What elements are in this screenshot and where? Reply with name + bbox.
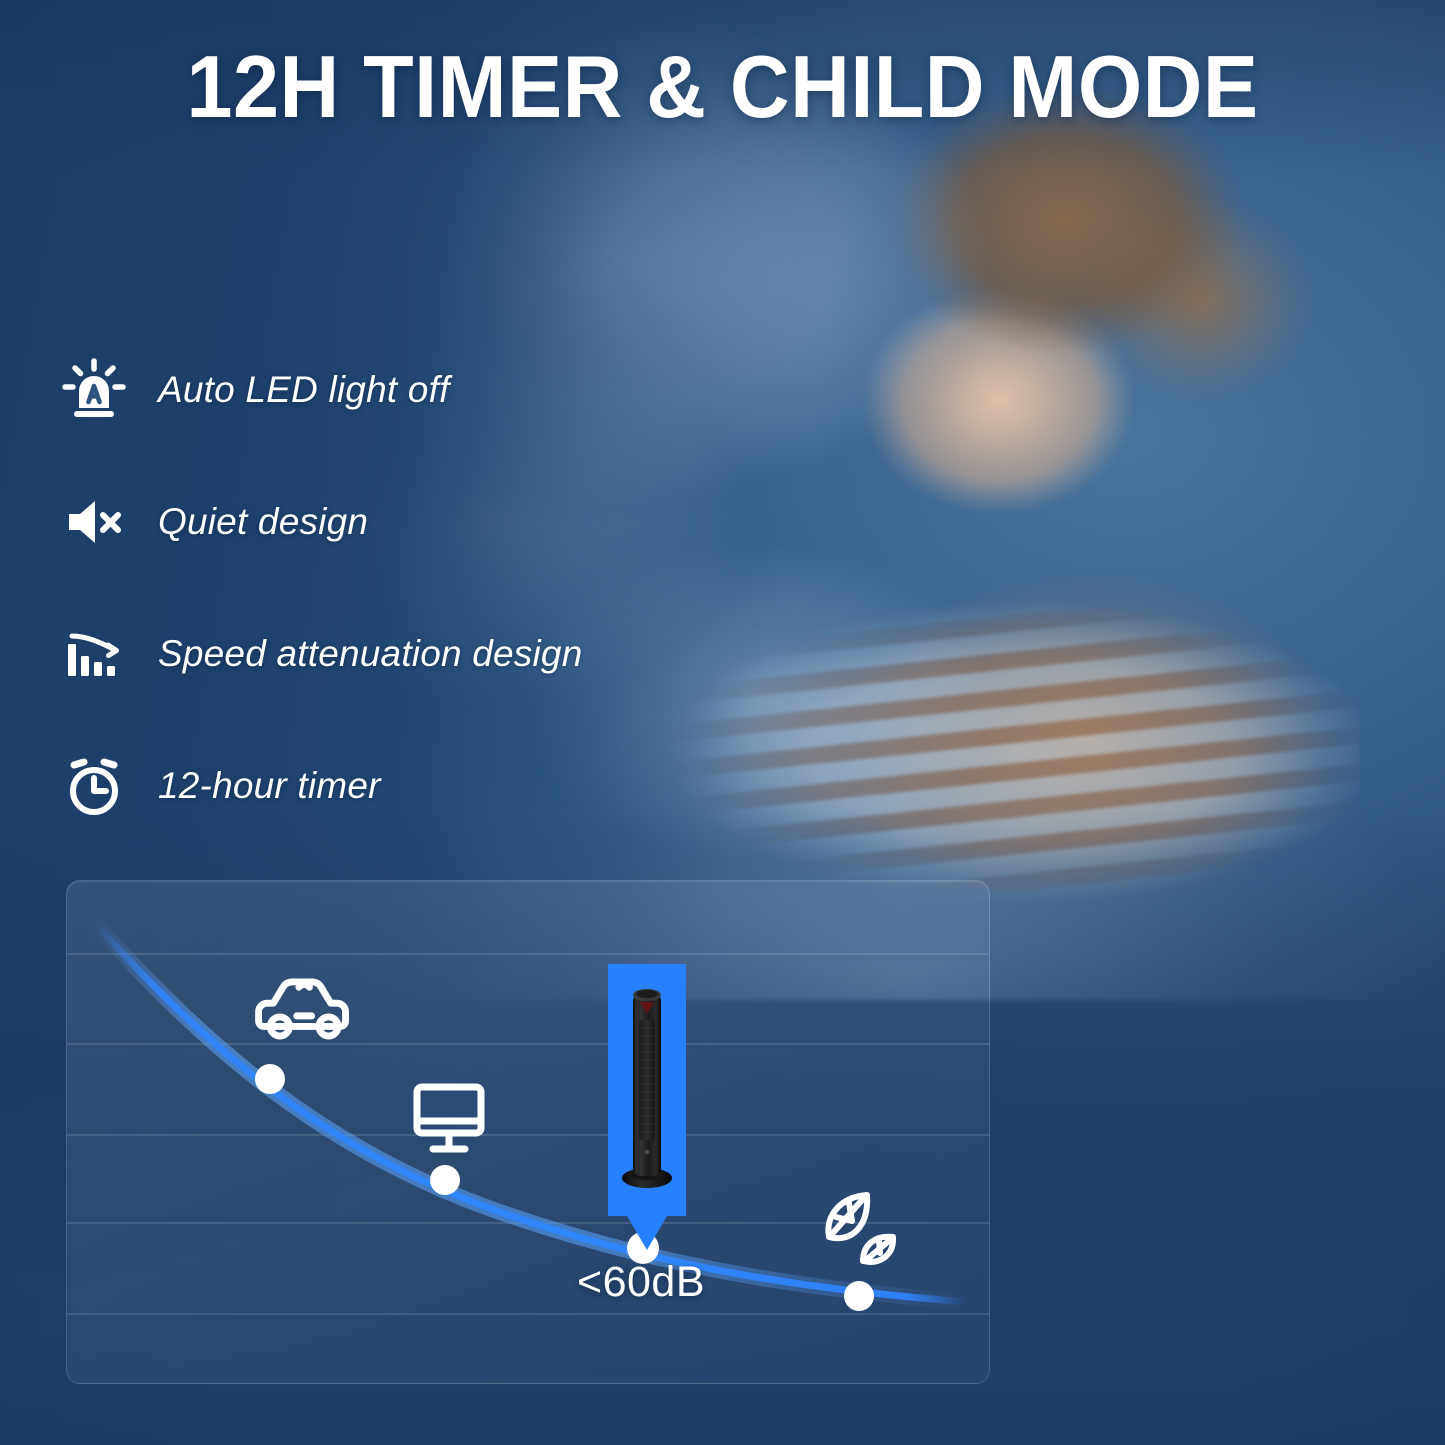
car-icon: [259, 982, 346, 1036]
data-point-monitor: [430, 1165, 460, 1195]
callout-tail-pointer: [627, 1216, 667, 1250]
siren-auto-icon: [58, 354, 130, 426]
feature-label: Quiet design: [158, 501, 368, 543]
feature-label: Auto LED light off: [158, 369, 450, 411]
feature-label: 12-hour timer: [158, 765, 381, 807]
feature-list: Auto LED light off Quiet design: [58, 324, 658, 852]
speaker-mute-icon: [58, 486, 130, 558]
feature-item-speed-attenuation: Speed attenuation design: [58, 588, 658, 720]
tower-fan-product-image: [621, 980, 673, 1202]
noise-decay-chart: [67, 881, 989, 1383]
product-feature-banner: 12H TIMER & CHILD MODE: [0, 0, 1445, 1445]
data-point-car: [255, 1064, 285, 1094]
data-point-leaf: [844, 1281, 874, 1311]
chart-curve: [95, 923, 967, 1302]
alarm-clock-icon: [58, 750, 130, 822]
product-callout-marker: [608, 964, 686, 1216]
feature-item-quiet-design: Quiet design: [58, 456, 658, 588]
leaf-icon: [828, 1195, 893, 1262]
descending-bars-icon: [58, 618, 130, 690]
feature-label: Speed attenuation design: [158, 633, 582, 675]
noise-level-chart-panel: [66, 880, 990, 1384]
chart-curve-glow: [95, 923, 967, 1302]
feature-item-auto-led: Auto LED light off: [58, 324, 658, 456]
page-title: 12H TIMER & CHILD MODE: [43, 36, 1401, 138]
noise-level-annotation: <60dB: [510, 1258, 772, 1307]
feature-item-12-hour-timer: 12-hour timer: [58, 720, 658, 852]
monitor-icon: [417, 1087, 481, 1149]
